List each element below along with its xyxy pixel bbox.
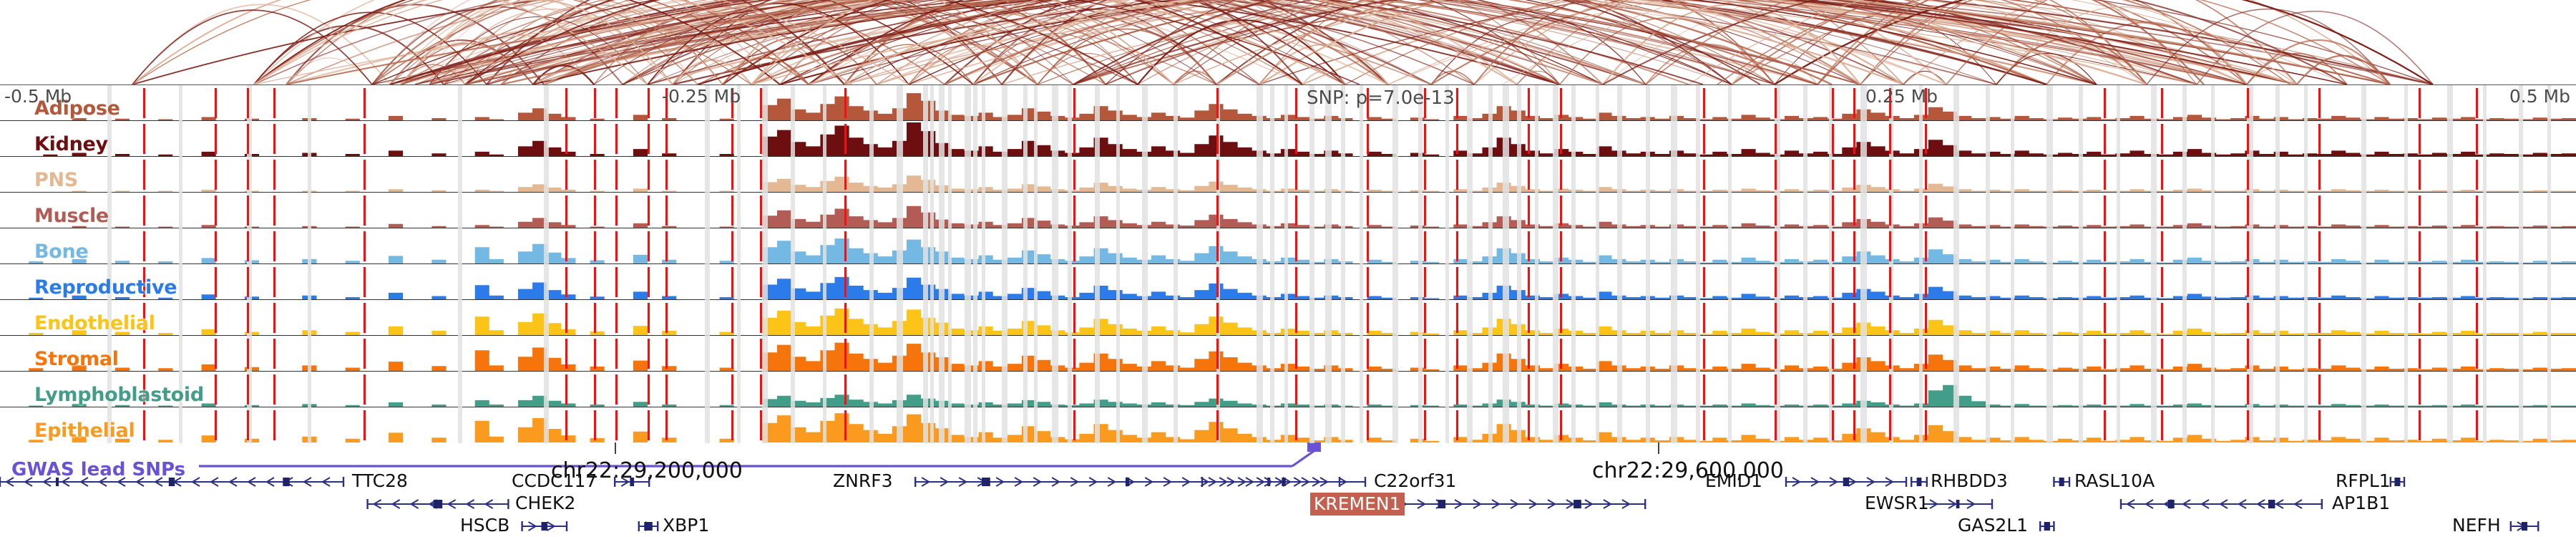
track-row-reproductive[interactable]: Reproductive	[0, 264, 2576, 300]
axis-label-right: 0.5 Mb	[2509, 86, 2570, 107]
gene-label-nefh[interactable]: NEFH	[2452, 515, 2501, 536]
signal-profile-reproductive	[0, 264, 2576, 299]
signal-profile-epithelial	[0, 407, 2576, 442]
gene-label-kremen1[interactable]: KREMEN1	[1310, 493, 1405, 516]
signal-profile-bone	[0, 228, 2576, 263]
track-label-lymphoblastoid: Lymphoblastoid	[34, 384, 204, 406]
track-row-epithelial[interactable]: Epithelial	[0, 407, 2576, 443]
signal-profile-endothelial	[0, 300, 2576, 335]
gene-label-chek2[interactable]: CHEK2	[515, 493, 575, 513]
track-rows: Adipose Kidney PNS Muscle	[0, 85, 2576, 443]
gene-label-ewsr1[interactable]: EWSR1	[1865, 493, 1929, 513]
track-row-muscle[interactable]: Muscle	[0, 193, 2576, 228]
track-row-adipose[interactable]: Adipose	[0, 85, 2576, 121]
gene-label-gas2l1[interactable]: GAS2L1	[1958, 515, 2028, 536]
gene-label-hscb[interactable]: HSCB	[460, 515, 509, 536]
lead-snp-pvalue-annotation: SNP: p=7.0e-13	[1307, 87, 1455, 109]
track-row-endothelial[interactable]: Endothelial	[0, 300, 2576, 336]
track-label-muscle: Muscle	[34, 205, 109, 227]
signal-profile-kidney	[0, 121, 2576, 156]
track-row-stromal[interactable]: Stromal	[0, 336, 2576, 372]
axis-label-q1: -0.25 Mb	[662, 86, 741, 107]
track-label-bone: Bone	[34, 241, 88, 263]
signal-profile-pns	[0, 157, 2576, 192]
track-label-epithelial: Epithelial	[34, 420, 135, 442]
track-label-pns: PNS	[34, 170, 78, 191]
signal-profile-lymphoblastoid	[0, 372, 2576, 407]
chromatin-interaction-arcs-panel	[0, 0, 2576, 84]
gene-label-rhbdd3[interactable]: RHBDD3	[1931, 470, 2008, 491]
gene-label-znrf3[interactable]: ZNRF3	[833, 470, 892, 491]
signal-tracks-panel: Adipose Kidney PNS Muscle	[0, 84, 2576, 442]
signal-profile-muscle	[0, 193, 2576, 228]
gene-label-rfpl1[interactable]: RFPL1	[2336, 470, 2391, 491]
arcs-svg	[0, 0, 2576, 84]
gwas-lead-snps-label: GWAS lead SNPs	[11, 459, 185, 480]
genome-browser-view: -0.5 Mb -0.25 Mb 0.25 Mb 0.5 Mb SNP: p=7…	[0, 0, 2576, 537]
gene-label-ap1b1[interactable]: AP1B1	[2332, 493, 2390, 513]
track-row-pns[interactable]: PNS	[0, 157, 2576, 193]
signal-profile-adipose	[0, 85, 2576, 120]
track-label-reproductive: Reproductive	[34, 277, 177, 299]
gene-label-rasl10a[interactable]: RASL10A	[2074, 470, 2155, 491]
gene-label-emid1[interactable]: EMID1	[1705, 470, 1762, 491]
track-row-lymphoblastoid[interactable]: Lymphoblastoid	[0, 372, 2576, 407]
axis-label-left: -0.5 Mb	[4, 86, 72, 107]
signal-profile-stromal	[0, 336, 2576, 371]
axis-label-q3: 0.25 Mb	[1865, 86, 1938, 107]
gene-label-ttc28[interactable]: TTC28	[352, 470, 408, 491]
gene-label-ccdc117[interactable]: CCDC117	[512, 470, 597, 491]
gene-label-c22orf31[interactable]: C22orf31	[1374, 470, 1456, 491]
gene-label-xbp1[interactable]: XBP1	[663, 515, 709, 536]
track-row-kidney[interactable]: Kidney	[0, 121, 2576, 157]
track-label-kidney: Kidney	[34, 134, 108, 155]
track-label-stromal: Stromal	[34, 349, 119, 370]
track-label-endothelial: Endothelial	[34, 313, 155, 334]
track-row-bone[interactable]: Bone	[0, 228, 2576, 264]
